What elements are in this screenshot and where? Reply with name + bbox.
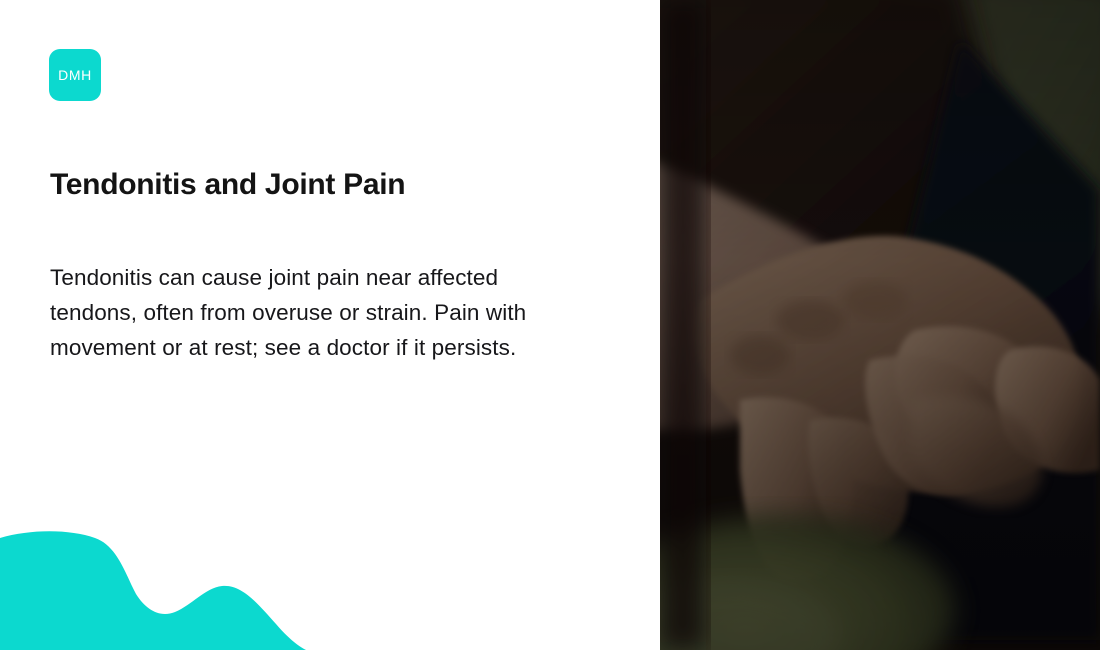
teal-wave-blob-icon xyxy=(0,520,320,650)
clasped-hands-photo xyxy=(660,0,1100,650)
page-title: Tendonitis and Joint Pain xyxy=(50,167,620,203)
body-paragraph: Tendonitis can cause joint pain near aff… xyxy=(50,260,570,365)
slide-canvas: DMH Tendonitis and Joint Pain Tendonitis… xyxy=(0,0,1100,650)
content-panel: DMH Tendonitis and Joint Pain Tendonitis… xyxy=(0,0,660,650)
logo-label: DMH xyxy=(58,68,92,82)
dmh-logo-badge[interactable]: DMH xyxy=(49,49,101,101)
